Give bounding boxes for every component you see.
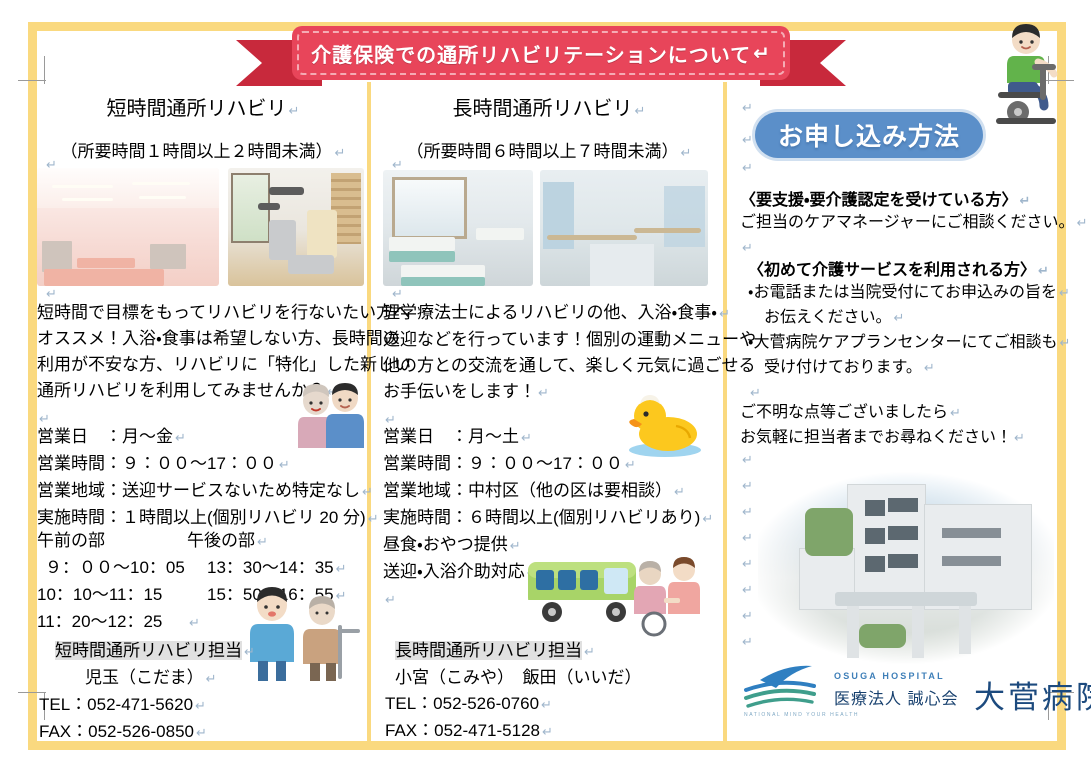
photo-light (139, 196, 186, 199)
detail-line: 営業地域：送迎サービスないため特定なし↵ (37, 478, 367, 505)
photo-bike-seat (269, 187, 304, 195)
crop-mark-top-left-h (18, 80, 46, 81)
pilcrow-mark: ↵ (1017, 193, 1030, 208)
pilcrow-mark: ↵ (277, 457, 290, 472)
photo-handrail (634, 228, 701, 233)
photo-floor (590, 244, 654, 286)
left-column-subtitle: （所要時間１時間以上２時間未満）↵ (44, 137, 362, 162)
pilcrow-mark: ↵ (753, 41, 771, 66)
right-section-2: 〈初めて介護サービスを利用される方〉↵ ・お電話または当院受付にてお申込みの旨を… (748, 256, 1068, 405)
left-subtitle-text: （所要時間１時間以上２時間未満） (61, 142, 333, 161)
pilcrow-mark: ↵ (193, 698, 206, 713)
pilcrow-mark: ↵ (740, 556, 753, 572)
middle-contact: 長時間通所リハビリ担当↵ 小宮（こみや） 飯田（いいだ） TEL：052-526… (383, 638, 713, 745)
pilcrow-mark: ↵ (360, 484, 373, 499)
pilcrow-mark: ↵ (366, 511, 379, 526)
morning-header: 午前の部 (37, 528, 187, 554)
pilcrow-mark: ↵ (717, 306, 730, 321)
boy-exercise-bike-illustration (988, 22, 1070, 126)
pilcrow-mark: ↵ (740, 582, 753, 598)
body-line: 短時間で目標をもってリハビリを行ないたい方へ (37, 300, 367, 326)
contact-person-line: 小宮（こみや） 飯田（いいだ） (383, 665, 713, 691)
rehab-room-photo (37, 168, 219, 286)
photo-tree (805, 508, 852, 556)
pilcrow-mark: ↵ (623, 457, 636, 472)
schedule-row: ９：００～10：0513：30～14：35↵ (37, 555, 367, 582)
contact-role: 長時間通所リハビリ担当 (395, 641, 582, 660)
pilcrow-mark: ↵ (333, 145, 346, 160)
hospital-building-photo (758, 468, 1054, 668)
contact-role-line: 短時間通所リハビリ担当↵ (37, 638, 367, 665)
pilcrow-mark: ↵ (1012, 430, 1025, 445)
body-line: 利用が不安な方、リハビリに「特化」した新しい (37, 352, 367, 378)
contact-fax-line: FAX：052-471-5128↵ (383, 718, 713, 745)
contact-fax: FAX：052-471-5128 (385, 721, 540, 740)
afternoon-header: 午後の部 (187, 531, 255, 550)
badge-label: お申し込み方法 (778, 117, 960, 153)
frame-border-left (28, 22, 37, 750)
photo-handrail (547, 235, 638, 240)
bullet-line: 受け付けております。↵ (748, 355, 1068, 380)
left-contact: 短時間通所リハビリ担当↵ 児玉（こだま）↵ TEL：052-471-5620↵ … (37, 638, 367, 746)
middle-column-subtitle: （所要時間６時間以上７時間未満）↵ (390, 137, 708, 162)
photo-light (132, 182, 190, 185)
pilcrow-mark: ↵ (740, 240, 753, 255)
pilcrow-mark: ↵ (679, 145, 692, 160)
contact-tel-line: TEL：052-526-0760↵ (383, 691, 713, 718)
pilcrow-mark: ↵ (740, 634, 753, 650)
pilcrow-mark: ↵ (536, 385, 549, 400)
bus-wheelchair-illustration (524, 540, 712, 638)
photo-window (865, 556, 886, 572)
pilcrow-mark: ↵ (1057, 285, 1070, 300)
pilcrow-mark: ↵ (1036, 263, 1049, 278)
photo-table (77, 258, 135, 269)
photo-ceiling (37, 168, 219, 208)
photo-window (942, 556, 1001, 566)
photo-pillar (912, 606, 924, 658)
contact-fax-line: FAX：052-526-0850↵ (37, 719, 367, 746)
photo-window (942, 528, 1001, 538)
pilcrow-mark: ↵ (540, 724, 553, 739)
pilcrow-mark: ↵ (700, 511, 713, 526)
pilcrow-mark: ↵ (948, 405, 961, 420)
photo-window (888, 526, 918, 540)
afternoon-slot: 13：30～14：35 (195, 558, 334, 577)
pilcrow-mark: ↵ (633, 103, 646, 118)
hospital-logo: OSUGA HOSPITAL 医療法人 誠心会 大菅病院 NATIONAL MI… (742, 662, 1052, 724)
photo-bike-body (269, 220, 296, 260)
left-details: 営業日 ：月～金↵ 営業時間：９：００～17：００↵ 営業地域：送迎サービスない… (37, 424, 367, 532)
pilcrow-mark: ↵ (519, 430, 532, 445)
bullet-line: お伝えください。↵ (748, 305, 1068, 330)
banner-title: 介護保険での通所リハビリテーションについて (311, 39, 751, 68)
photo-bed (389, 251, 455, 261)
pilcrow-mark: ↵ (748, 385, 761, 400)
crop-mark-top-left-v (44, 56, 45, 84)
photo-bed (476, 228, 524, 240)
photo-window (392, 177, 467, 239)
pilcrow-mark: ↵ (255, 534, 268, 549)
morning-slot: 10：10～11：15 (37, 582, 187, 608)
pilcrow-mark: ↵ (187, 615, 200, 630)
closing-line: お気軽に担当者までお尋ねください！↵ (740, 425, 1060, 450)
photo-light (52, 185, 114, 188)
pilcrow-mark: ↵ (383, 592, 396, 607)
body-line: オススメ！入浴・食事は希望しない方、長時間の (37, 326, 367, 352)
morning-slot: 11：20～12：25 (37, 609, 187, 635)
logo-tagline: NATIONAL MIND YOUR HEALTH (744, 712, 859, 718)
morning-slot: ９：００～10：05 (37, 555, 195, 581)
section2-heading: 〈初めて介護サービスを利用される方〉↵ (748, 256, 1068, 280)
schedule-headers: 午前の部午後の部↵ (37, 528, 367, 555)
bullet-line: ・お電話または当院受付にてお申込みの旨を↵ (748, 280, 1068, 305)
pilcrow-mark: ↵ (287, 103, 300, 118)
photo-pillar (959, 606, 971, 654)
title-ribbon: 介護保険での通所リハビリテーションについて ↵ (236, 24, 846, 88)
body-line: 理学療法士によるリハビリの他、入浴・食事・↵ (383, 300, 713, 327)
pilcrow-mark: ↵ (740, 452, 753, 468)
photo-bed (401, 265, 485, 278)
pilcrow-mark: ↵ (334, 561, 347, 576)
photo-window (888, 554, 918, 568)
pilcrow-mark: ↵ (173, 430, 186, 445)
photo-light (62, 198, 113, 201)
right-closing: ご不明な点等ございましたら↵ お気軽に担当者までお尋ねください！↵ (740, 400, 1060, 450)
section1-line: ご担当のケアマネージャーにご相談ください。↵ (740, 210, 1060, 235)
photo-window (865, 500, 886, 516)
pilcrow-mark: ↵ (582, 644, 595, 659)
pilcrow-mark: ↵ (1057, 335, 1070, 350)
logo-english-name: OSUGA HOSPITAL (834, 671, 945, 681)
detail-line: 営業地域：中村区（他の区は要相談）↵ (383, 478, 713, 505)
photo-shelf (150, 244, 186, 270)
contact-fax: FAX：052-526-0850 (39, 722, 194, 741)
contact-tel-line: TEL：052-471-5620↵ (37, 692, 367, 719)
left-column-title: 短時間通所リハビリ↵ (44, 92, 362, 121)
photo-window (865, 528, 886, 544)
contact-role-line: 長時間通所リハビリ担当↵ (383, 638, 713, 665)
photo-hedge (859, 624, 906, 648)
photo-shelf (42, 241, 71, 272)
middle-column-title: 長時間通所リハビリ↵ (390, 92, 708, 121)
pilcrow-mark: ↵ (740, 504, 753, 520)
left-title-text: 短時間通所リハビリ (107, 98, 287, 120)
photo-bed (389, 237, 455, 251)
pilcrow-mark: ↵ (508, 538, 521, 553)
corridor-handrail-photo (540, 170, 708, 286)
pilcrow-mark: ↵ (740, 100, 753, 116)
exercise-bike-photo (228, 168, 364, 286)
detail-line: 営業日 ：月～金↵ (37, 424, 367, 451)
right-section-1: 〈要支援・要介護認定を受けている方〉↵ ご担当のケアマネージャーにご相談ください… (740, 186, 1060, 260)
logo-corporation: 医療法人 誠心会 (834, 685, 958, 709)
photo-bike-base (288, 255, 334, 274)
middle-title-text: 長時間通所リハビリ (453, 98, 633, 120)
photo-window (888, 498, 918, 512)
pilcrow-mark: ↵ (194, 725, 207, 740)
bullet-line: ・大菅病院ケアプランセンターにてご相談も↵ (748, 330, 1068, 355)
pilcrow-mark: ↵ (892, 310, 905, 325)
detail-line: 営業時間：９：００～17：００↵ (37, 451, 367, 478)
photo-table (44, 269, 164, 286)
closing-line: ご不明な点等ございましたら↵ (740, 400, 1060, 425)
section1-heading: 〈要支援・要介護認定を受けている方〉↵ (740, 186, 1060, 210)
ribbon-body: 介護保険での通所リハビリテーションについて ↵ (292, 26, 790, 80)
brochure-page: 介護保険での通所リハビリテーションについて ↵ 短時間通所リハビリ↵ （所要時間… (0, 0, 1091, 770)
contact-tel: TEL：052-526-0760 (385, 694, 539, 713)
photo-pillar (847, 606, 859, 658)
photo-entrance-canopy (835, 592, 977, 606)
pilcrow-mark: ↵ (672, 484, 685, 499)
pilcrow-mark: ↵ (740, 160, 753, 176)
photo-bed (401, 277, 485, 286)
contact-tel: TEL：052-471-5620 (39, 695, 193, 714)
contact-person: 小宮（こみや） 飯田（いいだ） (395, 668, 642, 687)
contact-person: 児玉（こだま） (85, 668, 204, 687)
detail-line: 営業時間：９：００～17：００↵ (383, 451, 713, 478)
photo-bike-body (307, 210, 337, 257)
photo-door (664, 186, 704, 246)
detail-line: 実施時間：６時間以上(個別リハビリあり)↵ (383, 505, 713, 532)
column-divider-right (723, 82, 727, 746)
body-line: 送迎などを行っています！個別の運動メニューや (383, 327, 713, 353)
ward-room-photo (383, 170, 533, 286)
middle-column: 長時間通所リハビリ↵ （所要時間６時間以上７時間未満）↵ (390, 92, 708, 162)
pilcrow-mark: ↵ (740, 530, 753, 546)
photo-bike-seat (258, 203, 280, 210)
pilcrow-mark: ↵ (242, 644, 255, 659)
logo-hospital-name: 大菅病院 (974, 672, 1091, 717)
pilcrow-mark: ↵ (1075, 215, 1088, 230)
pilcrow-mark: ↵ (740, 132, 753, 148)
pilcrow-mark: ↵ (740, 478, 753, 494)
body-line: 他の方との交流を通して、楽しく元気に過ごせる (383, 353, 713, 379)
application-method-badge: お申し込み方法 (755, 112, 983, 158)
contact-person-line: 児玉（こだま）↵ (37, 665, 367, 692)
pilcrow-mark: ↵ (204, 671, 217, 686)
contact-role: 短時間通所リハビリ担当 (55, 641, 242, 660)
column-divider-left (367, 82, 371, 746)
middle-subtitle-text: （所要時間６時間以上７時間未満） (407, 142, 679, 161)
pilcrow-mark: ↵ (539, 697, 552, 712)
pilcrow-mark: ↵ (740, 608, 753, 624)
pilcrow-mark: ↵ (922, 360, 935, 375)
detail-line: 営業日 ：月～土↵ (383, 424, 713, 451)
left-column: 短時間通所リハビリ↵ （所要時間１時間以上２時間未満）↵ (44, 92, 362, 162)
